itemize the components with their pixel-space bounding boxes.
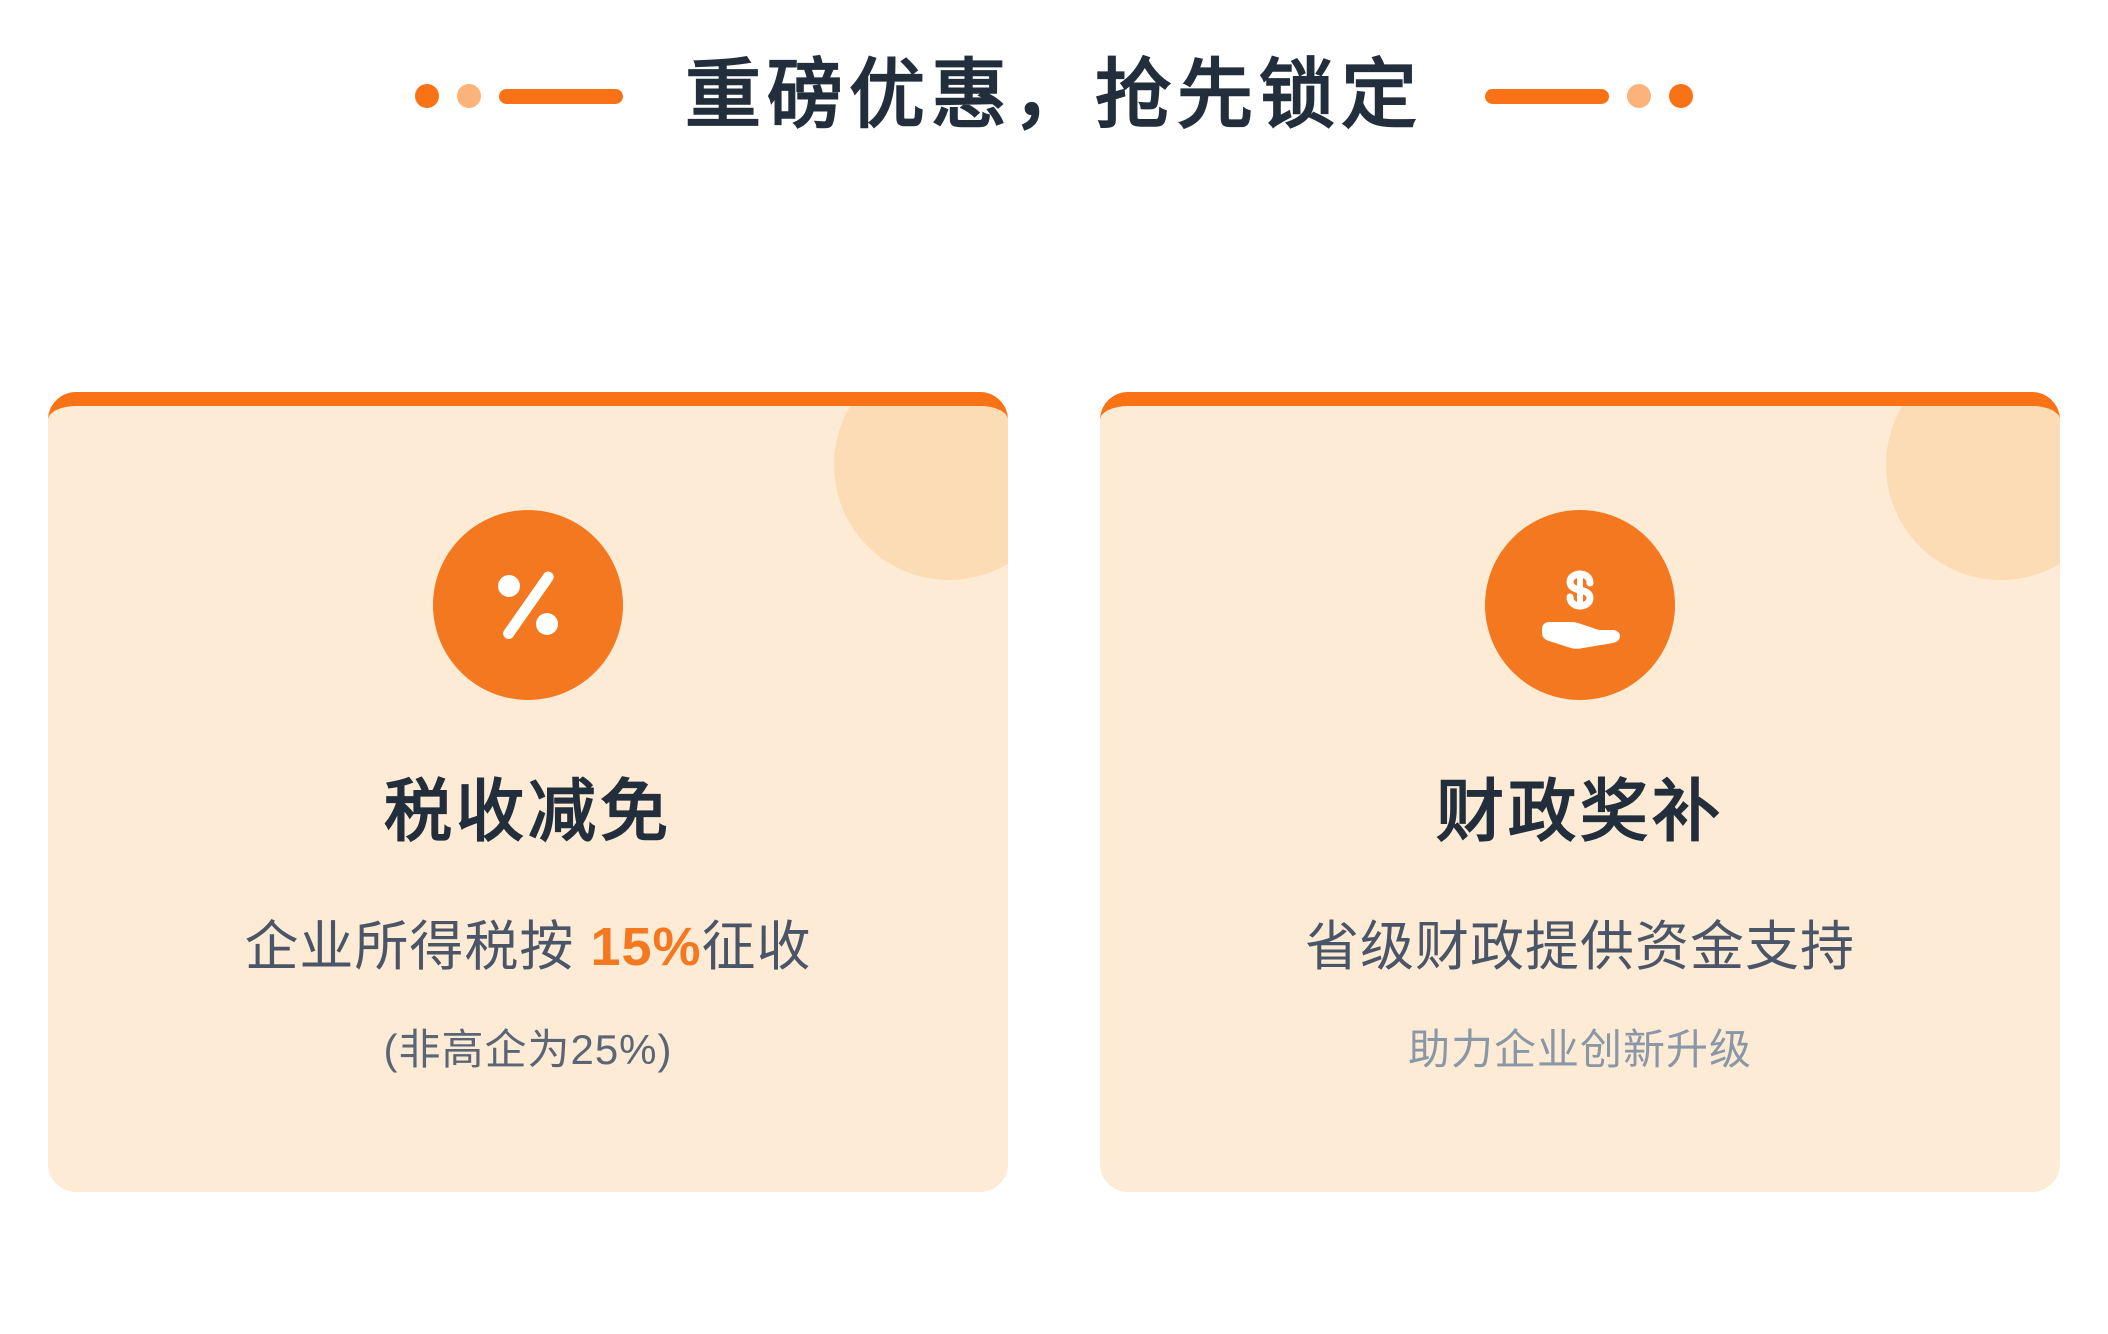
promo-banner: 重磅优惠，抢先锁定 税收减免 企业所得税按 15%征收 (非高企为25%: [0, 0, 2108, 1334]
header: 重磅优惠，抢先锁定: [0, 58, 2108, 134]
decor-dot-light-icon: [1627, 84, 1651, 108]
benefit-card-list: 税收减免 企业所得税按 15%征收 (非高企为25%): [0, 392, 2108, 1192]
card-description-suffix: 征收: [702, 917, 812, 977]
decor-bar-icon: [1485, 89, 1609, 104]
card-description: 企业所得税按 15%征收: [244, 914, 811, 982]
hand-holding-dollar-icon: [1485, 510, 1675, 700]
card-description-prefix: 企业所得税按: [244, 917, 590, 977]
card-description: 省级财政提供资金支持: [1305, 914, 1855, 982]
card-title: 财政奖补: [1436, 778, 1724, 846]
card-title: 税收减免: [384, 778, 672, 846]
decor-dot-light-icon: [457, 84, 481, 108]
corner-circle-decoration: [1886, 392, 2060, 580]
header-decoration-right: [1485, 84, 1693, 108]
decor-bar-icon: [499, 89, 623, 104]
corner-circle-decoration: [834, 392, 1008, 580]
header-decoration-left: [415, 84, 623, 108]
benefit-card[interactable]: 税收减免 企业所得税按 15%征收 (非高企为25%): [48, 392, 1008, 1192]
card-note: (非高企为25%): [383, 1016, 672, 1077]
card-description-prefix: 省级财政提供资金支持: [1305, 917, 1855, 977]
card-description-highlight: 15%: [590, 917, 701, 977]
benefit-card[interactable]: 财政奖补 省级财政提供资金支持 助力企业创新升级: [1100, 392, 2060, 1192]
decor-dot-solid-icon: [415, 84, 439, 108]
decor-dot-solid-icon: [1669, 84, 1693, 108]
percent-icon: [433, 510, 623, 700]
page-title: 重磅优惠，抢先锁定: [685, 58, 1423, 134]
card-note: 助力企业创新升级: [1408, 1016, 1752, 1077]
